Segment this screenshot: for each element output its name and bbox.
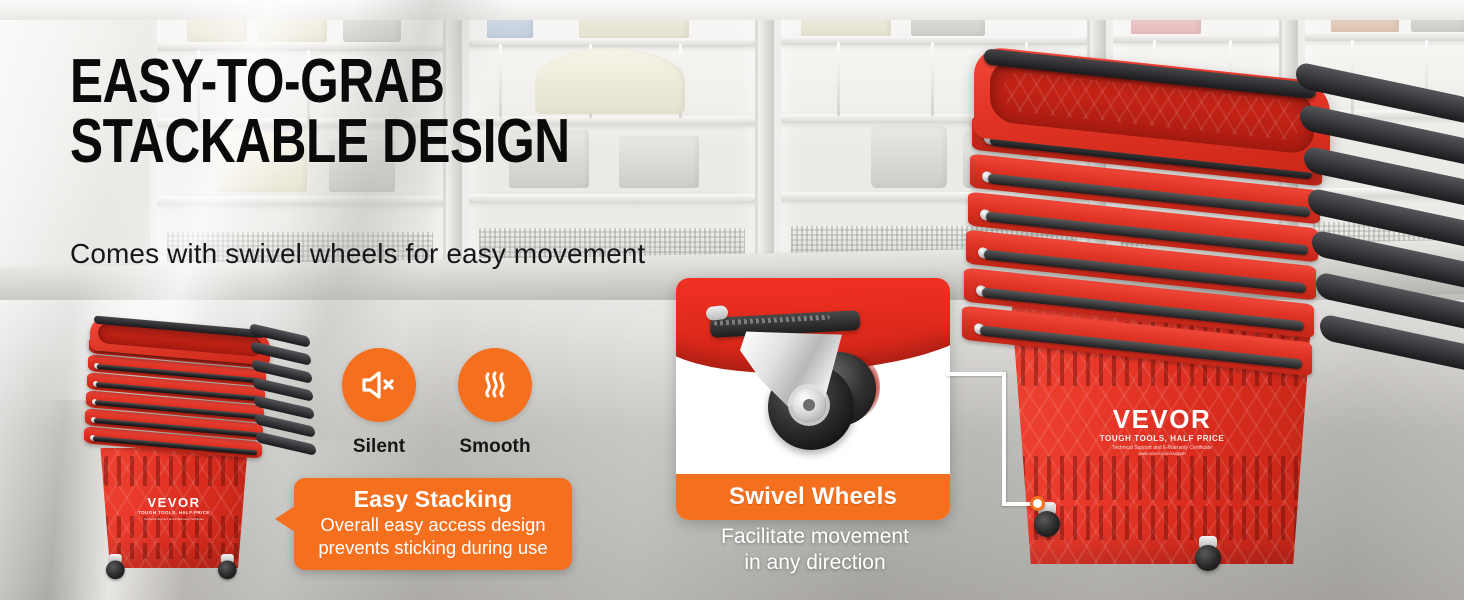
connector-endpoint-dot	[1030, 496, 1045, 511]
basket-stack-rims-small	[72, 330, 292, 460]
cooler-top-frame	[0, 0, 1464, 20]
easy-stacking-callout: Easy Stacking Overall easy access design…	[294, 478, 572, 570]
feature-smooth-label: Smooth	[459, 436, 530, 458]
basket-body-small: VEVOR TOUGH TOOLS, HALF PRICE Technical …	[94, 448, 254, 568]
inset-label-bar: Swivel Wheels	[676, 474, 950, 520]
product-photo-large-stack: VEVOR TOUGH TOOLS, HALF PRICE Technical …	[940, 58, 1464, 600]
callout-line-2: prevents sticking during use	[304, 537, 562, 559]
swivel-wheels-inset-panel: Swivel Wheels	[676, 278, 950, 520]
subheadline: Comes with swivel wheels for easy moveme…	[70, 238, 645, 270]
inset-caption-line-2: in any direction	[640, 550, 990, 576]
product-banner: VEVOR TOUGH TOOLS, HALF PRICE Technical …	[0, 0, 1464, 600]
feature-icon-group: Silent Smooth	[342, 348, 532, 458]
vevor-logo-large: VEVOR TOUGH TOOLS, HALF PRICE Technical …	[1002, 406, 1322, 457]
callout-title: Easy Stacking	[304, 487, 562, 513]
page-title: EASY-TO-GRAB STACKABLE DESIGN	[70, 52, 614, 172]
caster-small-left	[106, 554, 125, 578]
inset-connector-line	[946, 372, 1046, 512]
handle-cluster-left-stack	[250, 328, 318, 458]
callout-tail-icon	[275, 506, 295, 532]
feature-silent: Silent	[342, 348, 416, 458]
door-mullion-2	[758, 0, 774, 290]
caster-hub	[792, 388, 826, 422]
caster-small-right	[218, 554, 237, 578]
callout-line-1: Overall easy access design	[304, 514, 562, 536]
vevor-logo-small: VEVOR TOUGH TOOLS, HALF PRICE Technical …	[94, 496, 254, 521]
headline-line-1: EASY-TO-GRAB	[70, 47, 445, 116]
wave-lines-icon	[458, 348, 532, 422]
basket-stack-rims-large	[940, 58, 1464, 388]
swivel-caster-closeup-photo	[676, 278, 950, 474]
connector-segment-vertical	[1002, 372, 1006, 506]
inset-caption-line-1: Facilitate movement	[640, 524, 990, 550]
feature-smooth: Smooth	[458, 348, 532, 458]
handle-cluster-right	[1296, 76, 1464, 376]
inset-caption: Facilitate movement in any direction	[640, 524, 990, 575]
connector-segment-top	[946, 372, 1006, 376]
headline-line-2: STACKABLE DESIGN	[70, 112, 614, 172]
feature-silent-label: Silent	[353, 436, 405, 458]
speaker-mute-icon	[342, 348, 416, 422]
inset-label-text: Swivel Wheels	[729, 483, 897, 511]
product-photo-small-stack: VEVOR TOUGH TOOLS, HALF PRICE Technical …	[72, 330, 292, 588]
caster-large-front	[1195, 536, 1221, 570]
